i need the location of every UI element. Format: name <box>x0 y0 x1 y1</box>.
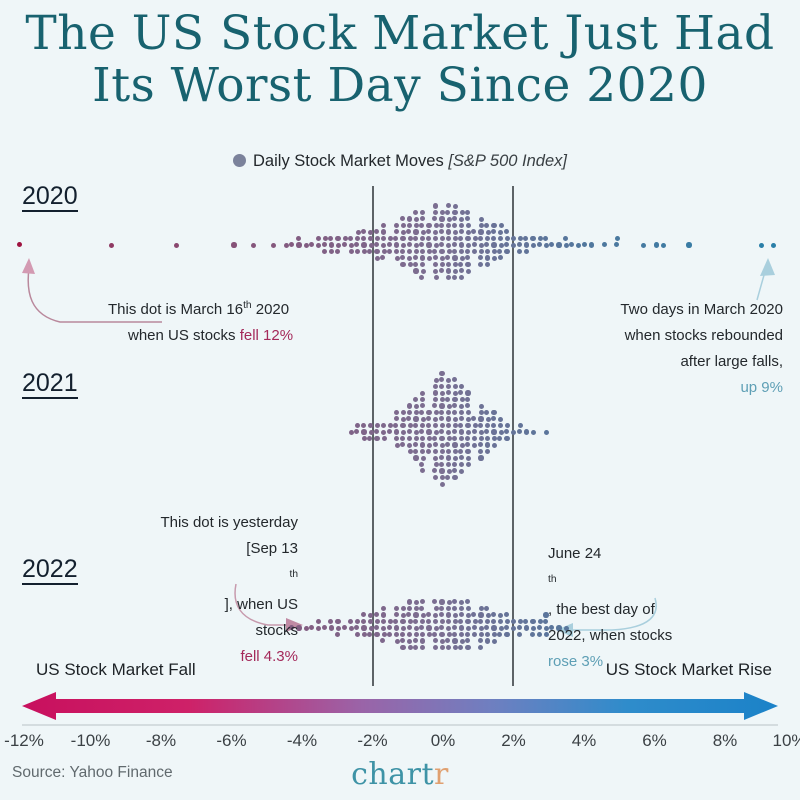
swarm-dot <box>759 243 764 248</box>
swarm-dot <box>447 436 452 441</box>
legend-label: Daily Stock Market Moves <box>253 152 444 170</box>
swarm-dot <box>439 371 444 376</box>
swarm-dot <box>446 223 451 228</box>
swarm-dot <box>654 242 659 247</box>
swarm-dot <box>523 619 528 624</box>
swarm-dot <box>478 638 483 643</box>
swarm-dot <box>433 423 438 428</box>
swarm-dot <box>413 612 418 617</box>
swarm-dot <box>465 262 470 267</box>
swarm-dot <box>453 384 458 389</box>
swarm-dot <box>413 449 418 454</box>
swarm-dot <box>361 242 366 247</box>
swarm-dot <box>439 436 444 441</box>
swarm-dot <box>426 449 431 454</box>
swarm-dot <box>491 223 496 228</box>
swarm-dot <box>446 449 451 454</box>
swarm-dot <box>426 416 431 421</box>
swarm-dot <box>387 625 392 630</box>
swarm-dot <box>355 423 360 428</box>
swarm-dot <box>484 429 489 434</box>
swarm-dot <box>504 229 509 234</box>
swarm-dot <box>517 632 522 637</box>
swarm-dot <box>478 619 483 624</box>
swarm-dot <box>440 210 445 215</box>
swarm-dot <box>446 262 451 267</box>
swarm-dot <box>427 436 432 441</box>
swarm-dot <box>433 269 438 274</box>
swarm-dot <box>109 243 114 248</box>
swarm-dot <box>485 249 490 254</box>
row-label-2020: 2020 <box>22 183 78 212</box>
swarm-dot <box>498 236 503 241</box>
swarm-dot <box>471 229 476 234</box>
swarm-dot <box>440 443 445 448</box>
swarm-dot <box>388 236 393 241</box>
swarm-dot <box>284 243 289 248</box>
swarm-dot <box>446 430 451 435</box>
swarm-dot <box>375 619 380 624</box>
swarm-dot <box>434 606 439 611</box>
swarm-dot <box>484 223 489 228</box>
swarm-dot <box>446 390 451 395</box>
swarm-dot <box>407 625 412 630</box>
swarm-dot <box>433 262 438 267</box>
swarm-dot <box>420 397 425 402</box>
swarm-dot <box>401 223 406 228</box>
swarm-dot <box>484 242 489 247</box>
swarm-dot <box>361 229 366 234</box>
swarm-dot <box>174 243 179 248</box>
swarm-dot <box>473 423 478 428</box>
swarm-dot <box>401 417 406 422</box>
swarm-dot <box>446 423 451 428</box>
swarm-dot <box>400 436 405 441</box>
swarm-dot <box>419 606 424 611</box>
swarm-dot <box>499 626 504 631</box>
swarm-dot <box>394 429 399 434</box>
swarm-dot <box>614 242 619 247</box>
swarm-dot <box>485 632 490 637</box>
swarm-dot <box>420 632 425 637</box>
swarm-dot <box>439 216 444 221</box>
swarm-dot <box>564 243 569 248</box>
annotation-two-days-rebound: Two days in March 2020 when stocks rebou… <box>605 297 783 401</box>
swarm-dot <box>498 423 503 428</box>
swarm-dot <box>434 430 439 435</box>
swarm-dot <box>446 455 451 460</box>
swarm-dot <box>447 249 452 254</box>
swarm-dot <box>420 436 425 441</box>
swarm-dot <box>538 236 543 241</box>
swarm-dot <box>414 626 419 631</box>
swarm-dot <box>446 229 451 234</box>
swarm-dot <box>381 423 386 428</box>
swarm-dot <box>296 242 301 247</box>
swarm-dot <box>380 638 385 643</box>
swarm-dot <box>446 410 451 415</box>
swarm-dot <box>459 462 464 467</box>
swarm-dot <box>407 223 412 228</box>
swarm-dot <box>395 639 400 644</box>
swarm-dot <box>394 625 399 630</box>
axis-label-fall: US Stock Market Fall <box>36 660 196 680</box>
swarm-dot <box>400 442 405 447</box>
swarm-dot <box>478 455 483 460</box>
swarm-dot <box>381 223 386 228</box>
swarm-dot <box>472 632 477 637</box>
swarm-dot <box>434 223 439 228</box>
swarm-dot <box>361 625 366 630</box>
swarm-dot <box>434 410 439 415</box>
swarm-dot <box>382 632 387 637</box>
swarm-dot <box>407 216 412 221</box>
swarm-dot <box>479 626 484 631</box>
swarm-dot <box>478 442 483 447</box>
swarm-dot <box>479 410 484 415</box>
swarm-dot <box>459 217 464 222</box>
swarm-dot <box>335 619 340 624</box>
swarm-dot <box>445 475 450 480</box>
swarm-dot <box>374 429 379 434</box>
swarm-dot <box>400 262 405 267</box>
swarm-dot <box>465 255 470 260</box>
swarm-dot <box>354 429 359 434</box>
swarm-dot <box>459 429 464 434</box>
swarm-dot <box>426 612 431 617</box>
swarm-dot <box>492 436 497 441</box>
swarm-dot <box>452 249 457 254</box>
swarm-dot <box>440 236 445 241</box>
swarm-dot <box>458 236 463 241</box>
swarm-dot <box>485 619 490 624</box>
swarm-dot <box>427 256 432 261</box>
swarm-dot <box>381 619 386 624</box>
swarm-dot <box>393 236 398 241</box>
swarm-dot <box>421 613 426 618</box>
swarm-dot <box>426 429 431 434</box>
swarm-dot <box>465 403 470 408</box>
chartr-logo: chartr <box>0 757 800 792</box>
swarm-dot <box>309 625 314 630</box>
swarm-dot <box>413 268 418 273</box>
swarm-dot <box>336 626 341 631</box>
swarm-dot <box>445 210 450 215</box>
swarm-dot <box>393 619 398 624</box>
swarm-dot <box>452 468 457 473</box>
reference-line-plus-2pct <box>512 186 514 686</box>
swarm-dot <box>771 243 776 248</box>
swarm-dot <box>478 449 483 454</box>
swarm-dot <box>518 236 523 241</box>
swarm-dot <box>453 417 458 422</box>
swarm-dot <box>440 645 445 650</box>
swarm-dot <box>420 236 425 241</box>
swarm-dot <box>499 430 504 435</box>
swarm-dot <box>395 256 400 261</box>
swarm-dot <box>479 217 484 222</box>
swarm-dot <box>432 468 437 473</box>
swarm-dot <box>504 249 509 254</box>
swarm-dot <box>420 255 425 260</box>
swarm-dot <box>439 625 444 630</box>
swarm-dot <box>472 625 477 630</box>
swarm-dot <box>524 242 529 247</box>
swarm-dot <box>426 242 431 247</box>
swarm-dot <box>316 243 321 248</box>
row-label-2021: 2021 <box>22 370 78 399</box>
swarm-dot <box>401 606 406 611</box>
swarm-dot <box>413 645 418 650</box>
swarm-dot <box>440 639 445 644</box>
swarm-dot <box>432 632 437 637</box>
swarm-dot <box>491 429 496 434</box>
swarm-dot <box>517 242 522 247</box>
swarm-dot <box>485 255 490 260</box>
swarm-dot <box>465 216 470 221</box>
swarm-dot <box>473 236 478 241</box>
swarm-dot <box>419 275 424 280</box>
swarm-dot <box>413 423 418 428</box>
swarm-dot <box>336 243 341 248</box>
swarm-dot <box>452 606 457 611</box>
swarm-dot <box>439 468 444 473</box>
swarm-dot <box>452 599 457 604</box>
swarm-dot <box>413 236 418 241</box>
swarm-dot <box>478 236 483 241</box>
swarm-dot <box>414 217 419 222</box>
swarm-dot <box>408 449 413 454</box>
swarm-dot <box>439 384 444 389</box>
swarm-dot <box>459 416 464 421</box>
swarm-dot <box>304 626 309 631</box>
swarm-dot <box>453 619 458 624</box>
chartr-logo-main: chart <box>351 757 434 792</box>
swarm-dot <box>420 449 425 454</box>
annotation-march-16-line1: This dot is March 16th 2020 <box>108 301 289 318</box>
swarm-dot <box>440 391 445 396</box>
swarm-dot <box>439 632 444 637</box>
swarm-dot <box>563 236 568 241</box>
swarm-dot <box>316 626 321 631</box>
swarm-dot <box>355 632 360 637</box>
swarm-dot <box>328 236 333 241</box>
swarm-dot <box>421 269 426 274</box>
swarm-dot <box>407 256 412 261</box>
swarm-dot <box>374 229 379 234</box>
swarm-dot <box>440 449 445 454</box>
swarm-dot <box>401 243 406 248</box>
swarm-dot <box>453 423 458 428</box>
title-line-1: The US Stock Market Just Had <box>25 6 774 61</box>
swarm-dot <box>537 242 542 247</box>
swarm-dot <box>524 625 529 630</box>
swarm-dot <box>466 626 471 631</box>
swarm-dot <box>453 645 458 650</box>
swarm-dot <box>505 236 510 241</box>
swarm-dot <box>433 475 438 480</box>
swarm-dot <box>309 242 314 247</box>
swarm-dot <box>426 229 431 234</box>
swarm-dot <box>543 236 548 241</box>
axis-tick: -2% <box>357 731 387 751</box>
swarm-dot <box>530 632 535 637</box>
axis-tick: -8% <box>146 731 176 751</box>
swarm-dot <box>426 625 431 630</box>
swarm-dot <box>388 619 393 624</box>
swarm-dot <box>356 230 361 235</box>
swarm-dot <box>289 242 294 247</box>
swarm-dot <box>374 436 379 441</box>
swarm-dot <box>452 242 457 247</box>
swarm-dot <box>413 397 418 402</box>
swarm-dot <box>485 423 490 428</box>
swarm-dot <box>420 638 425 643</box>
swarm-dot <box>661 243 666 248</box>
swarm-dot <box>413 442 418 447</box>
swarm-dot <box>472 436 477 441</box>
swarm-dot <box>439 612 444 617</box>
swarm-dot <box>432 249 437 254</box>
swarm-dot <box>420 391 425 396</box>
swarm-dot <box>479 249 484 254</box>
swarm-dot <box>439 455 444 460</box>
swarm-dot <box>460 210 465 215</box>
swarm-dot <box>414 404 419 409</box>
swarm-dot <box>479 404 484 409</box>
swarm-dot <box>446 268 451 273</box>
swarm-dot <box>408 619 413 624</box>
swarm-dot <box>433 390 438 395</box>
swarm-dot <box>440 262 445 267</box>
swarm-dot <box>432 403 437 408</box>
swarm-dot <box>458 619 463 624</box>
swarm-dot <box>361 619 366 624</box>
swarm-dot <box>407 249 412 254</box>
swarm-dot <box>440 397 445 402</box>
swarm-dot <box>686 242 691 247</box>
axis-tick-labels: -12%-10%-8%-6%-4%-2%0%2%4%6%8%10% <box>0 731 800 757</box>
swarm-dot <box>491 612 496 617</box>
swarm-dot <box>497 436 502 441</box>
swarm-dot <box>420 210 425 215</box>
swarm-dot <box>231 242 236 247</box>
swarm-dot <box>497 249 502 254</box>
swarm-dot <box>582 242 587 247</box>
swarm-dot <box>465 449 470 454</box>
swarm-dot <box>478 229 483 234</box>
swarm-dot <box>322 249 327 254</box>
swarm-dot <box>414 223 419 228</box>
swarm-dot <box>427 443 432 448</box>
swarm-dot <box>271 243 276 248</box>
swarm-dot <box>505 619 510 624</box>
swarm-dot <box>413 210 418 215</box>
swarm-dot <box>491 625 496 630</box>
swarm-dot <box>440 475 445 480</box>
swarm-dot <box>452 223 457 228</box>
swarm-dot <box>374 612 379 617</box>
swarm-dot <box>518 619 523 624</box>
annotation-yesterday-line1: This dot is yesterday <box>150 510 298 536</box>
swarm-dot <box>439 377 444 382</box>
swarm-dot <box>440 482 445 487</box>
swarm-dot <box>530 619 535 624</box>
swarm-dot <box>499 223 504 228</box>
swarm-dot <box>414 243 419 248</box>
swarm-dot <box>393 423 398 428</box>
swarm-dot <box>335 632 340 637</box>
swarm-dot <box>362 436 367 441</box>
swarm-dot <box>445 638 450 643</box>
swarm-dot <box>414 606 419 611</box>
swarm-dot <box>394 632 399 637</box>
swarm-dot <box>504 436 509 441</box>
swarm-dot <box>400 619 405 624</box>
swarm-dot <box>452 429 457 434</box>
swarm-dot <box>531 243 536 248</box>
swarm-dot <box>485 442 490 447</box>
gradient-direction-arrow <box>22 691 778 721</box>
axis-tick: 2% <box>501 731 526 751</box>
swarm-dot <box>381 626 386 631</box>
swarm-dot <box>329 242 334 247</box>
swarm-dot <box>433 442 438 447</box>
swarm-dot <box>432 216 437 221</box>
swarm-dot <box>433 638 438 643</box>
swarm-dot <box>446 626 451 631</box>
swarm-dot <box>433 645 438 650</box>
swarm-dot <box>375 256 380 261</box>
swarm-dot <box>589 242 594 247</box>
swarm-dot <box>452 475 457 480</box>
swarm-dot <box>504 612 509 617</box>
swarm-dot <box>407 242 412 247</box>
swarm-dot <box>447 217 452 222</box>
index-note: [S&P 500 Index] <box>448 152 567 170</box>
swarm-dot <box>342 242 347 247</box>
swarm-dot <box>453 613 458 618</box>
swarm-dot <box>466 456 471 461</box>
swarm-dot <box>400 423 405 428</box>
swarm-dot <box>434 275 439 280</box>
swarm-dot <box>394 410 399 415</box>
swarm-dot <box>446 645 451 650</box>
swarm-dot <box>445 397 450 402</box>
swarm-dot <box>349 626 354 631</box>
swarm-dot <box>400 255 405 260</box>
swarm-dot <box>452 625 457 630</box>
swarm-dot <box>434 626 439 631</box>
swarm-dot <box>479 430 484 435</box>
swarm-dot <box>439 229 444 234</box>
swarm-dot <box>466 243 471 248</box>
swarm-dot <box>374 625 379 630</box>
swarm-dot <box>499 243 504 248</box>
swarm-dot <box>387 632 392 637</box>
swarm-dot <box>408 262 413 267</box>
swarm-dot <box>602 242 607 247</box>
swarm-dot <box>414 410 419 415</box>
swarm-dot <box>531 626 536 631</box>
swarm-dot <box>452 638 457 643</box>
swarm-dot <box>361 429 366 434</box>
swarm-dot <box>504 625 509 630</box>
swarm-dot <box>498 230 503 235</box>
swarm-dot <box>420 619 425 624</box>
swarm-dot <box>446 378 451 383</box>
swarm-dot <box>387 429 392 434</box>
